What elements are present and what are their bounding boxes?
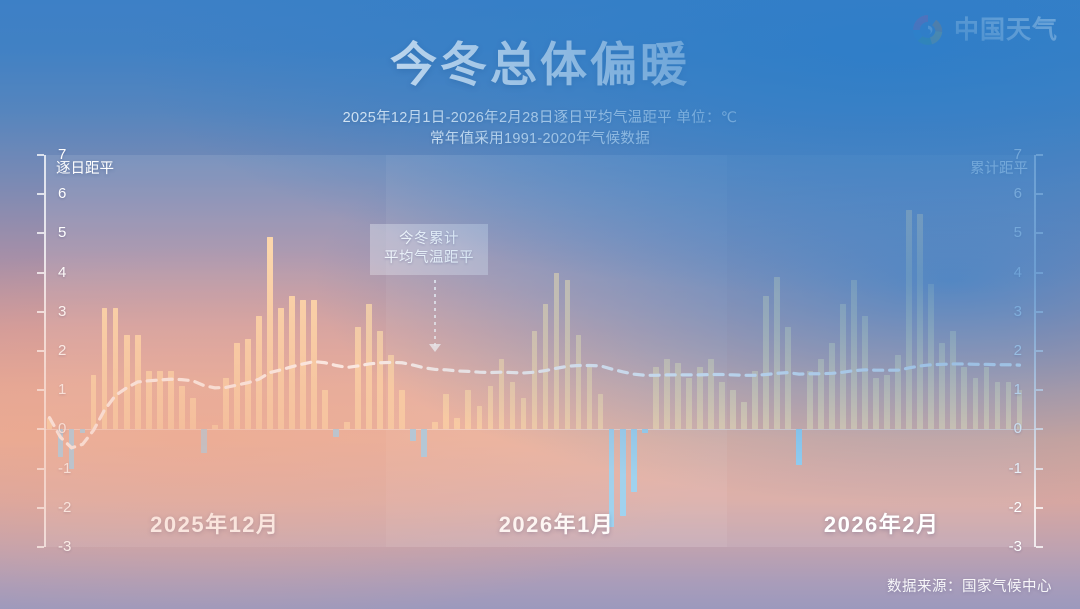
axis-tick-label-left: -1 [1009, 461, 1022, 476]
daily-anomaly-bar [432, 422, 438, 430]
daily-anomaly-bar [135, 335, 141, 429]
left-axis-label: 逐日距平 [56, 157, 114, 178]
daily-anomaly-bar [598, 394, 604, 429]
daily-anomaly-bar [774, 277, 780, 430]
daily-anomaly-bar [256, 316, 262, 430]
daily-anomaly-bar [399, 390, 405, 429]
data-source-note: 数据来源：国家气候中心 [887, 575, 1052, 596]
daily-anomaly-bar [862, 316, 868, 430]
axis-tick-right [1036, 389, 1043, 391]
axis-tick-label-right: 5 [58, 225, 66, 240]
daily-anomaly-bar [388, 355, 394, 429]
daily-anomaly-bar [168, 371, 174, 430]
daily-anomaly-bar [840, 304, 846, 429]
daily-anomaly-bar [179, 386, 185, 429]
daily-anomaly-bar [377, 331, 383, 429]
axis-tick-right [1036, 232, 1043, 234]
axis-tick-label-left: 5 [1014, 225, 1022, 240]
page-title: 今冬总体偏暖 [0, 26, 1080, 95]
daily-anomaly-bar [653, 367, 659, 430]
daily-anomaly-bar [366, 304, 372, 429]
daily-anomaly-bar [80, 429, 86, 433]
chart-plot-area: 7766554433221100-1-1-2-2-3-3 2025年12月202… [44, 155, 1036, 547]
daily-anomaly-bar [532, 331, 538, 429]
axis-tick-right [1036, 154, 1043, 156]
daily-anomaly-bar [664, 359, 670, 430]
daily-anomaly-bar [245, 339, 251, 429]
axis-tick-label-left: 0 [1014, 421, 1022, 436]
axis-tick-label-right: -3 [58, 539, 71, 554]
annotation-line-1: 今冬累计 [384, 230, 474, 249]
daily-anomaly-bar [543, 304, 549, 429]
axis-tick-label-right: 2 [58, 343, 66, 358]
axis-tick-left [37, 272, 44, 274]
daily-anomaly-bar [554, 273, 560, 430]
daily-anomaly-bar [465, 390, 471, 429]
daily-anomaly-bar [829, 343, 835, 429]
axis-tick-label-left: 6 [1014, 186, 1022, 201]
daily-anomaly-bar [796, 429, 802, 464]
daily-anomaly-bar [300, 300, 306, 429]
daily-anomaly-bar [190, 398, 196, 429]
axis-tick-label-left: 2 [1014, 343, 1022, 358]
axis-tick-label-left: -3 [1009, 539, 1022, 554]
axis-tick-right [1036, 350, 1043, 352]
daily-anomaly-bar [344, 422, 350, 430]
daily-anomaly-bar [1006, 382, 1012, 429]
axis-tick-right [1036, 428, 1043, 430]
axis-tick-right [1036, 272, 1043, 274]
axis-tick-label-left: 1 [1014, 382, 1022, 397]
daily-anomaly-bar [289, 296, 295, 429]
daily-anomaly-bar [631, 429, 637, 492]
daily-anomaly-bar [510, 382, 516, 429]
axis-tick-label-right: 6 [58, 186, 66, 201]
axis-tick-label-left: -2 [1009, 500, 1022, 515]
daily-anomaly-bar [873, 378, 879, 429]
daily-anomaly-bar [895, 355, 901, 429]
daily-anomaly-bar [686, 378, 692, 429]
daily-anomaly-bars [44, 155, 1036, 547]
daily-anomaly-bar [443, 394, 449, 429]
axis-tick-left [37, 546, 44, 548]
daily-anomaly-bar [322, 390, 328, 429]
daily-anomaly-bar [917, 214, 923, 430]
left-axis-line [44, 155, 46, 547]
subtitle-line-1: 2025年12月1日-2026年2月28日逐日平均气温距平 单位：℃ [0, 108, 1080, 129]
daily-anomaly-bar [675, 363, 681, 430]
daily-anomaly-bar [565, 280, 571, 429]
daily-anomaly-bar [708, 359, 714, 430]
axis-tick-left [37, 468, 44, 470]
daily-anomaly-bar [521, 398, 527, 429]
daily-anomaly-bar [939, 343, 945, 429]
daily-anomaly-bar [47, 418, 53, 430]
axis-tick-label-left: 3 [1014, 304, 1022, 319]
daily-anomaly-bar [984, 367, 990, 430]
daily-anomaly-bar [995, 382, 1001, 429]
axis-tick-right [1036, 546, 1043, 548]
daily-anomaly-bar [146, 371, 152, 430]
daily-anomaly-bar [719, 382, 725, 429]
axis-tick-left [37, 311, 44, 313]
daily-anomaly-bar [884, 375, 890, 430]
daily-anomaly-bar [697, 367, 703, 430]
month-label: 2026年2月 [824, 507, 940, 539]
daily-anomaly-bar [587, 367, 593, 430]
daily-anomaly-bar [950, 331, 956, 429]
axis-tick-left [37, 193, 44, 195]
axis-tick-left [37, 232, 44, 234]
axis-tick-right [1036, 507, 1043, 509]
daily-anomaly-bar [333, 429, 339, 437]
subtitle-block: 2025年12月1日-2026年2月28日逐日平均气温距平 单位：℃ 常年值采用… [0, 108, 1080, 150]
axis-tick-label-right: -2 [58, 500, 71, 515]
daily-anomaly-bar [278, 308, 284, 430]
subtitle-line-2: 常年值采用1991-2020年气候数据 [0, 129, 1080, 150]
daily-anomaly-bar [730, 390, 736, 429]
axis-tick-label-left: 4 [1014, 265, 1022, 280]
daily-anomaly-bar [421, 429, 427, 456]
daily-anomaly-bar [212, 425, 218, 429]
daily-anomaly-bar [576, 335, 582, 429]
daily-anomaly-bar [223, 378, 229, 429]
daily-anomaly-bar [906, 210, 912, 430]
daily-anomaly-bar [973, 378, 979, 429]
daily-anomaly-bar [355, 327, 361, 429]
annotation-leader-line [434, 280, 436, 346]
daily-anomaly-bar [113, 308, 119, 430]
axis-tick-left [37, 350, 44, 352]
daily-anomaly-bar [91, 375, 97, 430]
axis-tick-label-right: -1 [58, 461, 71, 476]
right-axis-label: 累计距平 [970, 157, 1028, 178]
axis-tick-left [37, 389, 44, 391]
axis-tick-left [37, 507, 44, 509]
daily-anomaly-bar [807, 371, 813, 430]
daily-anomaly-bar [741, 402, 747, 429]
daily-anomaly-bar [499, 359, 505, 430]
daily-anomaly-bar [642, 429, 648, 433]
daily-anomaly-bar [620, 429, 626, 515]
daily-anomaly-bar [818, 359, 824, 430]
axis-tick-label-right: 1 [58, 382, 66, 397]
daily-anomaly-bar [201, 429, 207, 453]
daily-anomaly-bar [267, 237, 273, 429]
daily-anomaly-bar [477, 406, 483, 430]
daily-anomaly-bar [234, 343, 240, 429]
axis-tick-right [1036, 311, 1043, 313]
axis-tick-right [1036, 193, 1043, 195]
daily-anomaly-bar [157, 371, 163, 430]
annotation-line-2: 平均气温距平 [384, 249, 474, 268]
daily-anomaly-bar [763, 296, 769, 429]
daily-anomaly-bar [454, 418, 460, 430]
month-label: 2025年12月 [150, 507, 279, 539]
cumulative-annotation: 今冬累计 平均气温距平 [370, 224, 488, 275]
axis-tick-label-right: 3 [58, 304, 66, 319]
daily-anomaly-bar [410, 429, 416, 441]
axis-tick-label-right: 4 [58, 265, 66, 280]
daily-anomaly-bar [752, 371, 758, 430]
axis-tick-left [37, 154, 44, 156]
daily-anomaly-bar [928, 284, 934, 429]
daily-anomaly-bar [785, 327, 791, 429]
daily-anomaly-bar [961, 367, 967, 430]
daily-anomaly-bar [102, 308, 108, 430]
axis-tick-left [37, 428, 44, 430]
daily-anomaly-bar [124, 335, 130, 429]
month-label: 2026年1月 [499, 507, 615, 539]
daily-anomaly-bar [851, 280, 857, 429]
daily-anomaly-bar [488, 386, 494, 429]
poster-canvas: 中国天气 今冬总体偏暖 2025年12月1日-2026年2月28日逐日平均气温距… [0, 0, 1080, 609]
daily-anomaly-bar [311, 300, 317, 429]
axis-tick-label-right: 0 [58, 421, 66, 436]
annotation-arrow-icon [429, 344, 441, 352]
axis-tick-right [1036, 468, 1043, 470]
